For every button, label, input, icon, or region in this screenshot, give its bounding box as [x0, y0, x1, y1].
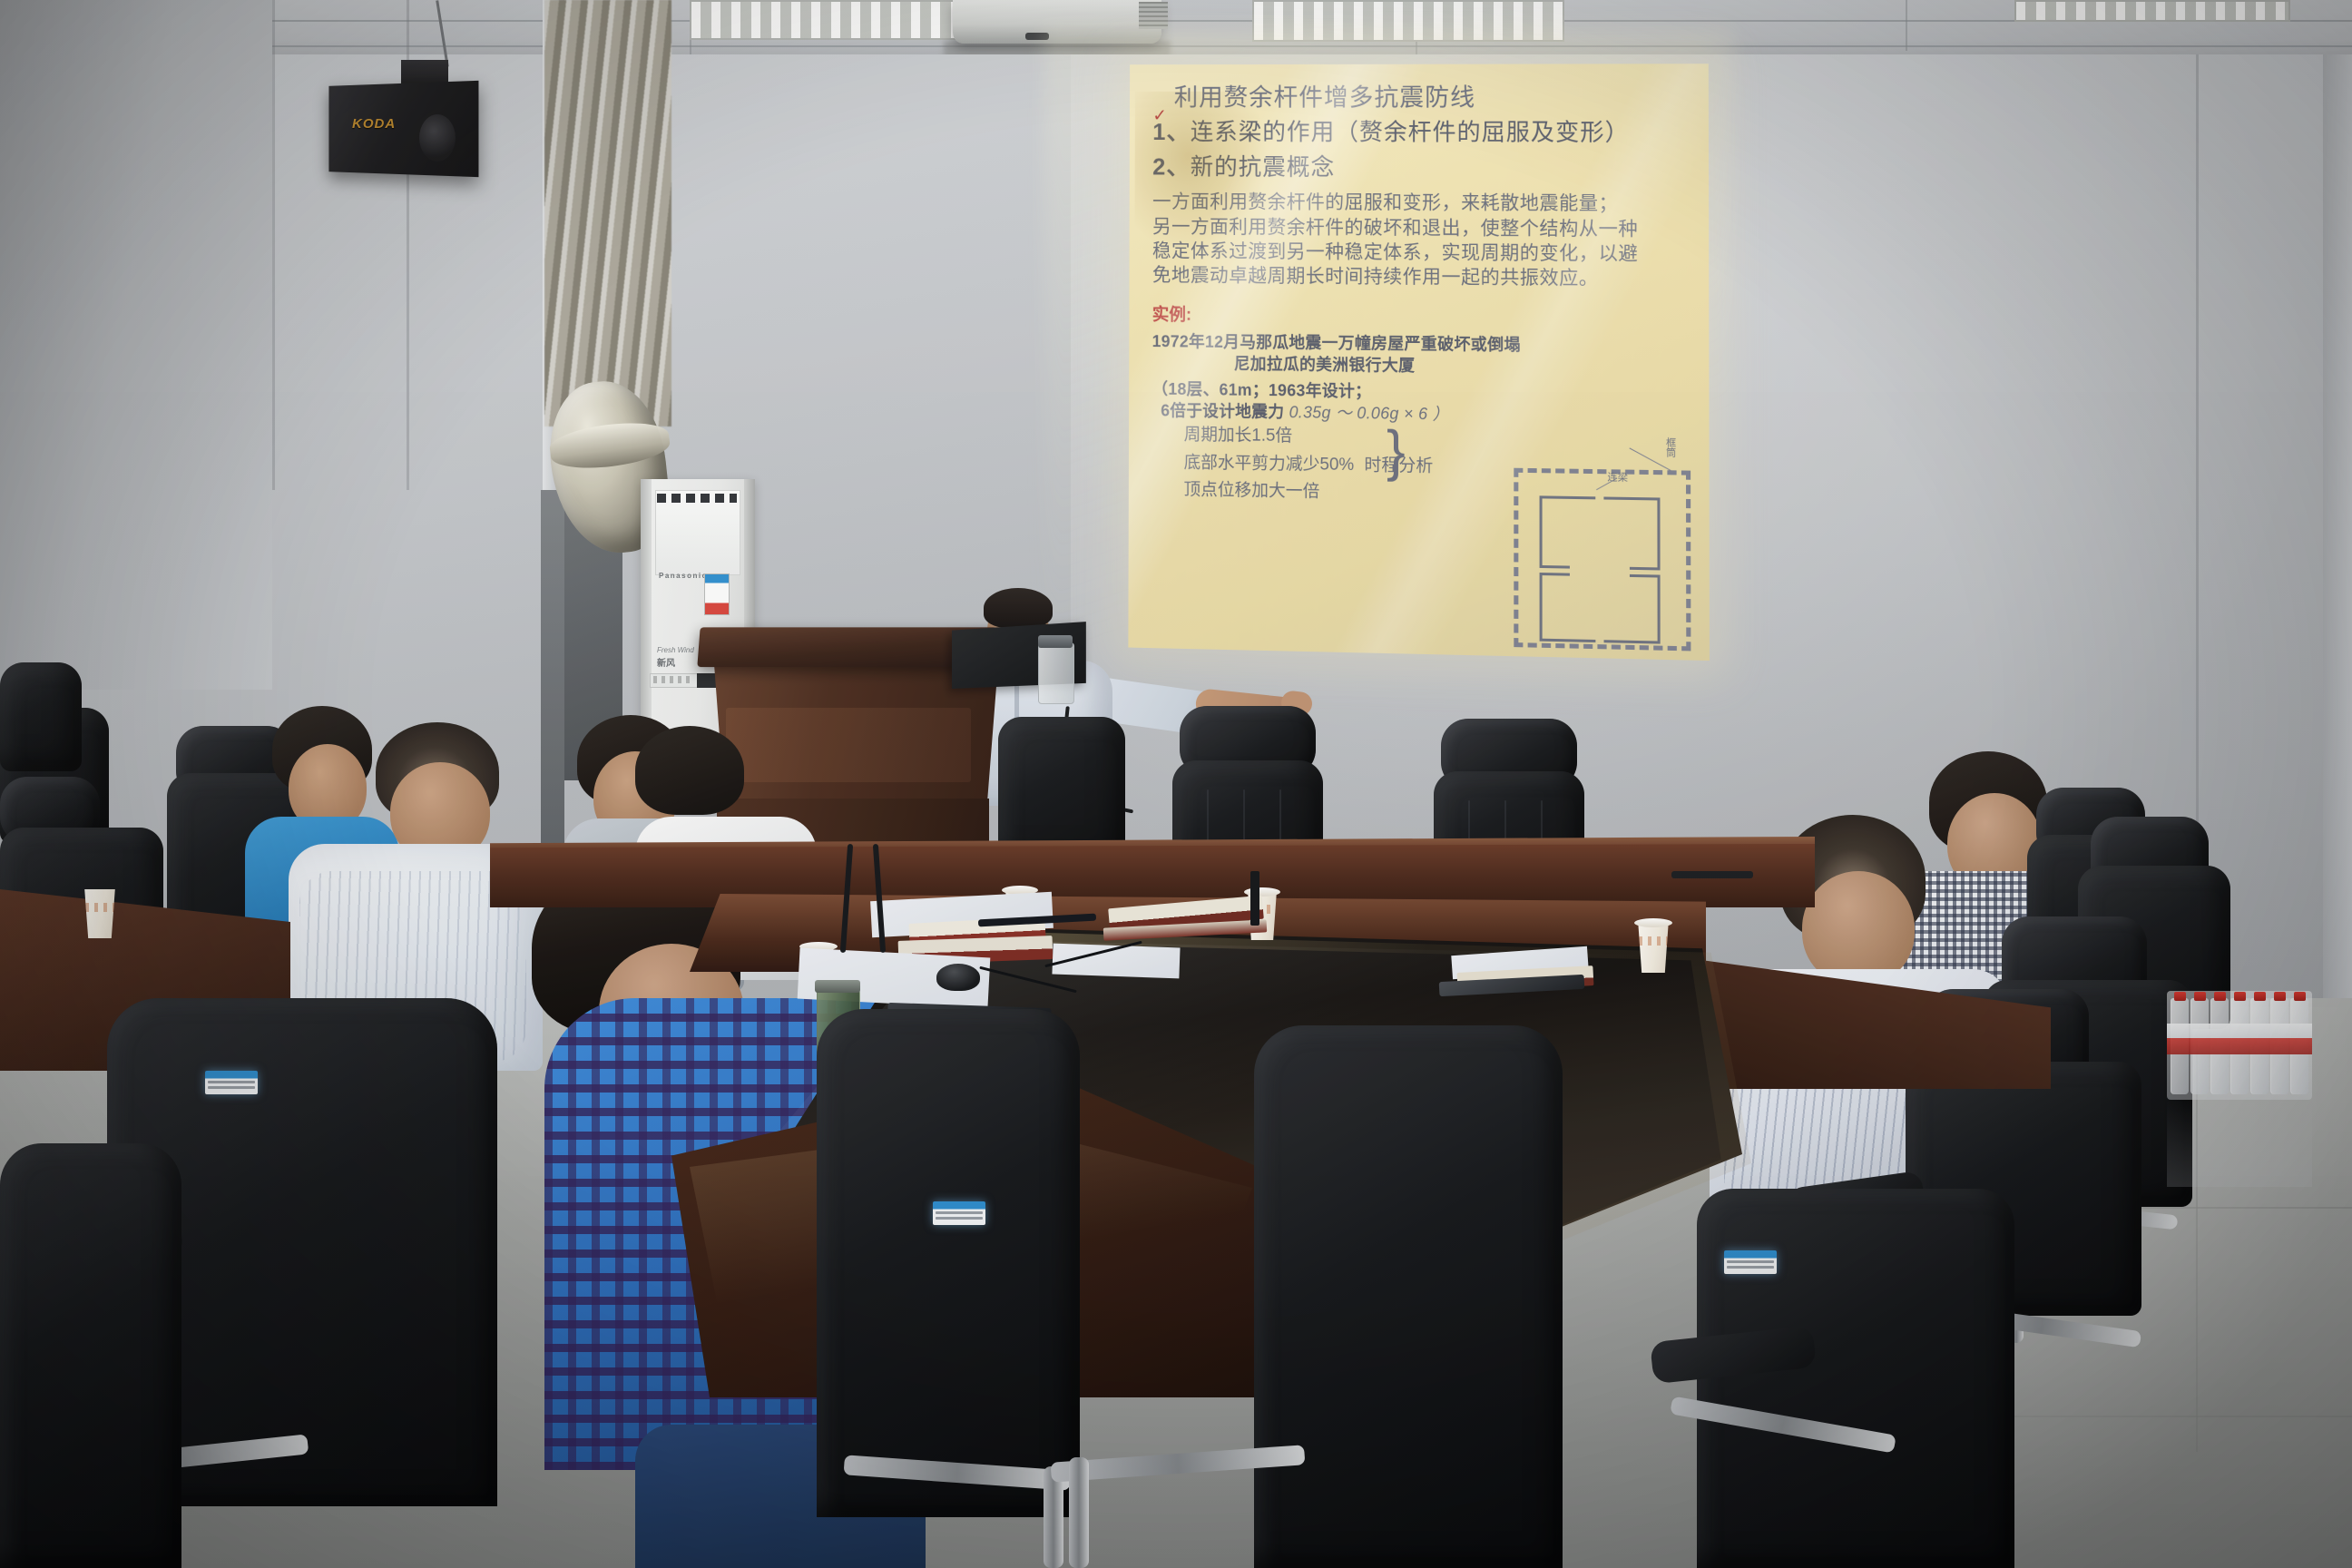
slide-case-formula: 0.35g ～ 0.06g × 6 ）	[1289, 403, 1449, 423]
wall-seam	[272, 0, 275, 490]
diagram-inner-label: 连梁	[1607, 469, 1627, 485]
speaker-brand-label: KODA	[352, 116, 396, 132]
wall-panel	[541, 490, 564, 889]
slide-case-line-4-text: 6倍于设计地震力	[1161, 402, 1284, 422]
slide-paragraph-line: 另一方面利用赘余杆件的破坏和退出，使整个结构从一种	[1152, 215, 1685, 242]
slide-paragraph: 一方面利用赘余杆件的屈服和变形，来耗散地震能量； 另一方面利用赘余杆件的破坏和退…	[1152, 191, 1685, 292]
chair-asset-tag	[933, 1201, 985, 1225]
slide-structural-diagram: 框筒 连梁	[1501, 436, 1694, 651]
ac-control-buttons[interactable]	[653, 676, 693, 683]
water-pack-floor-reflection	[2167, 1100, 2312, 1187]
slide-case-line-2: 尼加拉瓜的美洲银行大厦	[1234, 353, 1685, 380]
slide-example-label: 实例:	[1152, 300, 1685, 329]
light-louver	[691, 2, 964, 38]
presenter-hair	[984, 588, 1053, 628]
ceiling-projector	[953, 0, 1161, 44]
chair-backrest[interactable]	[1697, 1189, 2014, 1568]
ceiling-tile-seam	[1906, 0, 1907, 51]
podium-bottle-cap	[1038, 635, 1073, 648]
projection-screen: ✓ 利用赘余杆件增多抗震防线 1、连系梁的作用（赘余杆件的屈服及变形） 2、新的…	[1128, 64, 1710, 661]
speaker-driver-icon	[419, 114, 456, 162]
ceiling-tile-seam	[0, 45, 2352, 47]
chair-backrest[interactable]	[1254, 1025, 1563, 1568]
ac-brand-label: Panasonic	[659, 572, 708, 580]
bottle-cap	[2254, 992, 2266, 1001]
slide-paragraph-line: 一方面利用赘余杆件的屈服和变形，来耗散地震能量；	[1152, 191, 1685, 218]
bottle-cap	[2274, 992, 2286, 1001]
slide-bullet-check-icon: ✓	[1152, 106, 1167, 127]
light-louver	[1254, 2, 1563, 40]
ac-feature-label-cn: 新风	[657, 655, 675, 669]
light-louver	[2016, 2, 2288, 20]
slide-item-1-text: 连系梁的作用（赘余杆件的屈服及变形）	[1191, 119, 1630, 146]
cable-on-table	[1671, 871, 1753, 878]
bottle-cap	[2234, 992, 2246, 1001]
water-pack-wrap-band	[2167, 1038, 2312, 1054]
fluorescent-light-panel	[1252, 0, 1564, 42]
slide-result-brace: }	[1387, 419, 1406, 484]
slide-title: 利用赘余杆件增多抗震防线	[1174, 83, 1685, 111]
projector-lens	[1025, 33, 1049, 40]
fluorescent-light-panel	[690, 0, 965, 40]
tea-jar-cap	[815, 980, 860, 993]
ac-feature-label-en: Fresh Wind	[657, 646, 694, 654]
podium-front-panel	[726, 708, 971, 782]
slide-paragraph-line: 免地震动卓越周期长时间持续作用一起的共振效应。	[1152, 263, 1685, 291]
slide-result-2-text: 底部水平剪力减少50%	[1184, 453, 1355, 475]
slide-item-2: 2、新的抗震概念	[1152, 152, 1684, 185]
chair-leg	[1069, 1457, 1089, 1568]
left-wall	[0, 0, 272, 690]
ac-air-grille	[655, 490, 740, 575]
slide-item-2-num: 2、	[1152, 153, 1191, 181]
slide-paragraph-line: 稳定体系过渡到另一种稳定体系，实现周期的变化，以避	[1152, 240, 1685, 268]
projector-vent	[1139, 2, 1168, 29]
diagram-outer-label: 框筒	[1662, 437, 1677, 457]
slide-item-1: 1、连系梁的作用（赘余杆件的屈服及变形）	[1152, 117, 1684, 150]
water-pack-wrap-label	[2167, 1024, 2312, 1038]
cup-pattern	[85, 903, 114, 912]
bottle-cap	[2294, 992, 2306, 1001]
microphone-stem	[1250, 871, 1259, 926]
diagram-core-wall	[1540, 522, 1570, 569]
ac-energy-label-sticker	[704, 573, 730, 615]
audience-hair	[635, 726, 744, 815]
slide-case-line-1: 1972年12月马那瓜地震一万幢房屋严重破坏或倒塌	[1152, 330, 1685, 358]
bottle-cap	[2214, 992, 2226, 1001]
chair-asset-tag	[1724, 1250, 1777, 1274]
chair-backrest[interactable]	[0, 662, 82, 771]
computer-mouse[interactable]	[936, 964, 980, 991]
bottle-cap	[2194, 992, 2206, 1001]
fluorescent-light-panel	[2014, 0, 2290, 22]
slide-item-2-text: 新的抗震概念	[1191, 153, 1336, 181]
bottle-cap	[2174, 992, 2186, 1001]
window-curtain	[544, 0, 671, 426]
chair-backrest[interactable]	[817, 1009, 1080, 1517]
diagram-core-wall	[1540, 593, 1596, 642]
cup-rim	[1634, 918, 1672, 927]
diagram-core-wall	[1603, 594, 1660, 644]
chair-asset-tag	[205, 1071, 258, 1094]
conference-room-photo: KODA ✓ 利用赘余杆件增多抗震防线 1、连系梁的作用（赘余杆件的屈服及变形）…	[0, 0, 2352, 1568]
right-wall-edge	[2323, 54, 2352, 1053]
cup-pattern	[1639, 936, 1668, 946]
ac-grille-slats	[657, 494, 737, 503]
podium-water-bottle	[1038, 642, 1074, 704]
diagram-core-wall	[1630, 523, 1661, 570]
ceiling-tile-seam	[0, 20, 2352, 22]
cup-rim	[1244, 887, 1280, 897]
chair-backrest[interactable]	[0, 1143, 181, 1568]
